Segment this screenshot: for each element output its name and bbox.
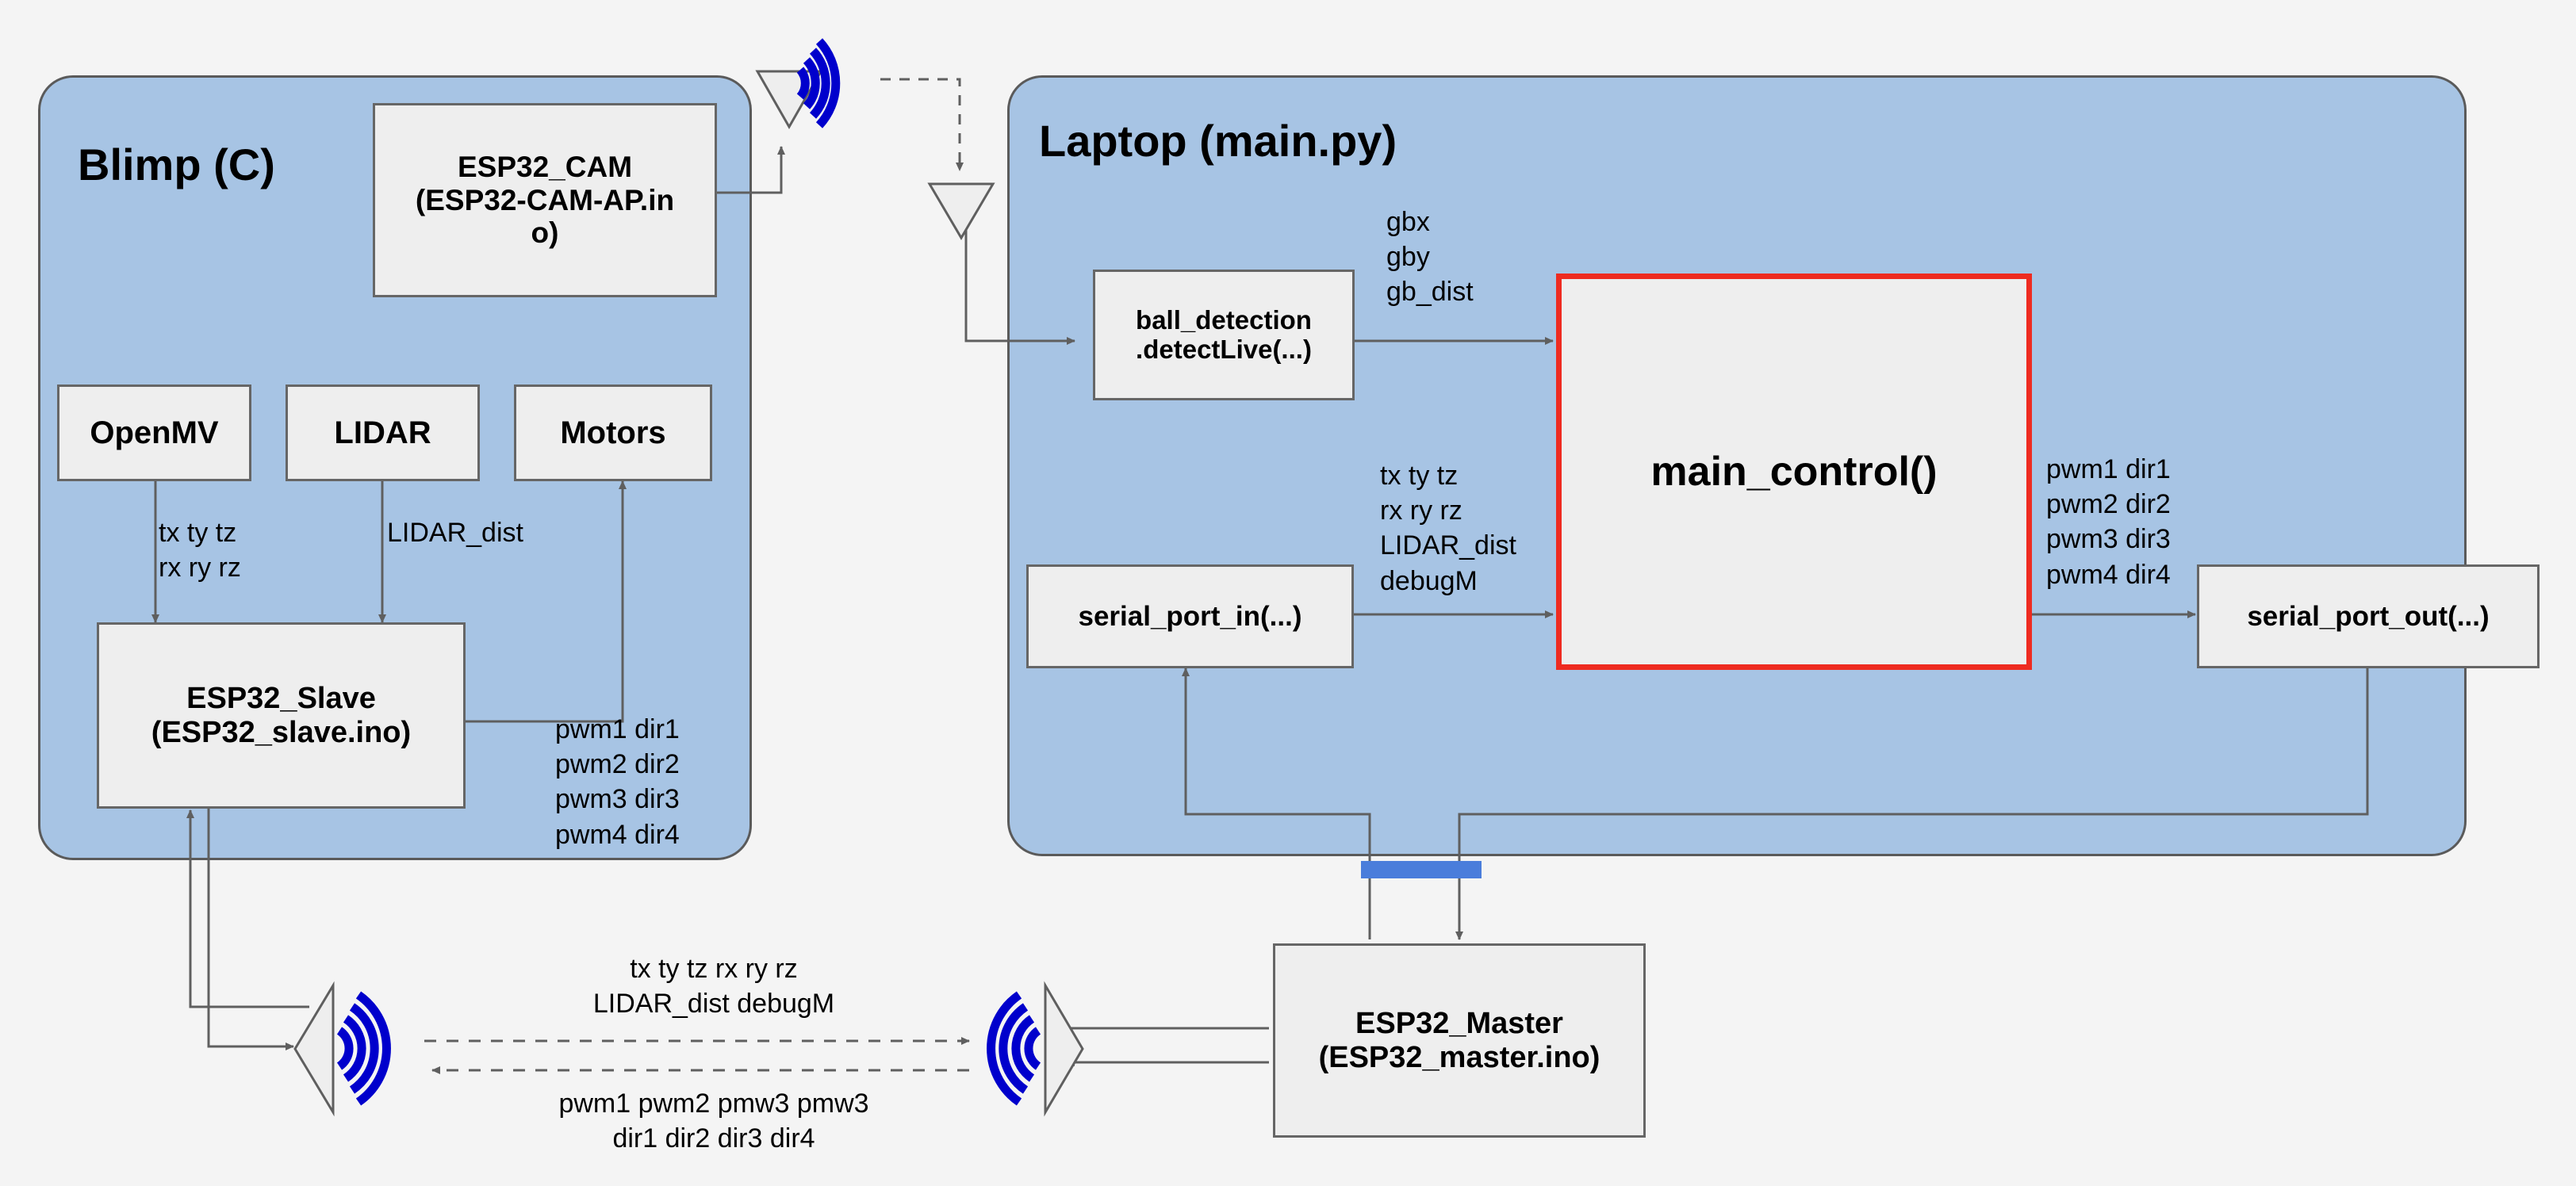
slave-motors-l1: pwm1 dir1 <box>555 712 680 747</box>
panel-title-blimp: Blimp (C) <box>78 139 275 190</box>
node-esp32-slave[interactable]: ESP32_Slave (ESP32_slave.ino) <box>97 622 466 809</box>
main-serialout-l1: pwm1 dir1 <box>2046 452 2171 487</box>
panel-title-laptop: Laptop (main.py) <box>1039 115 1397 166</box>
label-wireless-downlink: pwm1 pwm2 pmw3 pmw3 dir1 dir2 dir3 dir4 <box>516 1086 912 1156</box>
wifi-waves-master-icon <box>991 995 1038 1102</box>
label-cam-to-balldetect: gbx gby gb_dist <box>1386 205 1474 310</box>
wifi-waves-cam-icon <box>800 41 836 125</box>
main-control-label: main_control() <box>1650 449 1937 495</box>
node-openmv[interactable]: OpenMV <box>57 384 251 481</box>
esp32-master-line1: ESP32_Master <box>1355 1007 1563 1041</box>
openmv-slave-l2: rx ry rz <box>159 550 241 585</box>
lidar-label: LIDAR <box>334 415 431 451</box>
node-lidar[interactable]: LIDAR <box>286 384 480 481</box>
wireless-up-l1: tx ty tz rx ry rz <box>547 951 880 986</box>
cam-balldetect-l1: gbx <box>1386 205 1474 239</box>
node-motors[interactable]: Motors <box>514 384 712 481</box>
label-openmv-to-slave: tx ty tz rx ry rz <box>159 515 241 585</box>
diagram-canvas: Blimp (C) Laptop (main.py) ESP32_CAM (ES… <box>0 0 2576 1186</box>
antenna-laptop-icon <box>930 184 993 238</box>
node-main-control[interactable]: main_control() <box>1556 274 2032 670</box>
esp32-cam-line2: (ESP32-CAM-AP.in <box>416 184 674 216</box>
label-wireless-uplink: tx ty tz rx ry rz LIDAR_dist debugM <box>547 951 880 1021</box>
wireless-down-l2: dir1 dir2 dir3 dir4 <box>516 1121 912 1156</box>
node-serial-port-out[interactable]: serial_port_out(...) <box>2197 564 2540 668</box>
main-serialout-l4: pwm4 dir4 <box>2046 557 2171 592</box>
serial-port-out-label: serial_port_out(...) <box>2247 601 2489 632</box>
ball-detection-line2: .detectLive(...) <box>1136 335 1312 365</box>
antenna-master-icon <box>1045 985 1083 1112</box>
esp32-cam-line1: ESP32_CAM <box>458 151 632 183</box>
main-serialout-l2: pwm2 dir2 <box>2046 487 2171 522</box>
esp32-cam-line3: o) <box>531 216 559 249</box>
esp32-slave-line2: (ESP32_slave.ino) <box>151 716 411 750</box>
esp32-slave-line1: ESP32_Slave <box>186 682 376 716</box>
label-slave-to-motors: pwm1 dir1 pwm2 dir2 pwm3 dir3 pwm4 dir4 <box>555 712 680 852</box>
antenna-cam-icon <box>757 71 821 127</box>
antenna-blimp-lower-icon <box>295 985 333 1112</box>
label-lidar-to-slave: LIDAR_dist <box>387 515 523 550</box>
main-serialout-l3: pwm3 dir3 <box>2046 522 2171 557</box>
motors-label: Motors <box>560 415 665 451</box>
serialin-main-l2: rx ry rz <box>1380 493 1516 528</box>
slave-motors-l3: pwm3 dir3 <box>555 782 680 817</box>
node-esp32-master[interactable]: ESP32_Master (ESP32_master.ino) <box>1273 943 1646 1138</box>
openmv-slave-l1: tx ty tz <box>159 515 241 550</box>
serialin-main-l1: tx ty tz <box>1380 458 1516 493</box>
node-serial-port-in[interactable]: serial_port_in(...) <box>1026 564 1354 668</box>
serial-port-in-label: serial_port_in(...) <box>1078 601 1301 632</box>
serialin-main-l4: debugM <box>1380 564 1516 599</box>
node-ball-detection[interactable]: ball_detection .detectLive(...) <box>1093 270 1355 400</box>
node-esp32-cam[interactable]: ESP32_CAM (ESP32-CAM-AP.in o) <box>373 103 717 297</box>
slave-motors-l2: pwm2 dir2 <box>555 747 680 782</box>
wireless-down-l1: pwm1 pwm2 pmw3 pmw3 <box>516 1086 912 1121</box>
wifi-waves-blimp-lower-icon <box>339 995 386 1102</box>
label-serialin-to-maincontrol: tx ty tz rx ry rz LIDAR_dist debugM <box>1380 458 1516 599</box>
cam-balldetect-l2: gby <box>1386 239 1474 274</box>
wireless-up-l2: LIDAR_dist debugM <box>547 986 880 1021</box>
slave-motors-l4: pwm4 dir4 <box>555 817 680 852</box>
openmv-label: OpenMV <box>90 415 218 451</box>
label-maincontrol-to-serialout: pwm1 dir1 pwm2 dir2 pwm3 dir3 pwm4 dir4 <box>2046 452 2171 592</box>
serialin-main-l3: LIDAR_dist <box>1380 528 1516 563</box>
esp32-master-line2: (ESP32_master.ino) <box>1319 1041 1600 1075</box>
lidar-slave-l1: LIDAR_dist <box>387 515 523 550</box>
cam-balldetect-l3: gb_dist <box>1386 274 1474 309</box>
ball-detection-line1: ball_detection <box>1136 306 1312 335</box>
usb-connector-icon <box>1361 861 1482 878</box>
